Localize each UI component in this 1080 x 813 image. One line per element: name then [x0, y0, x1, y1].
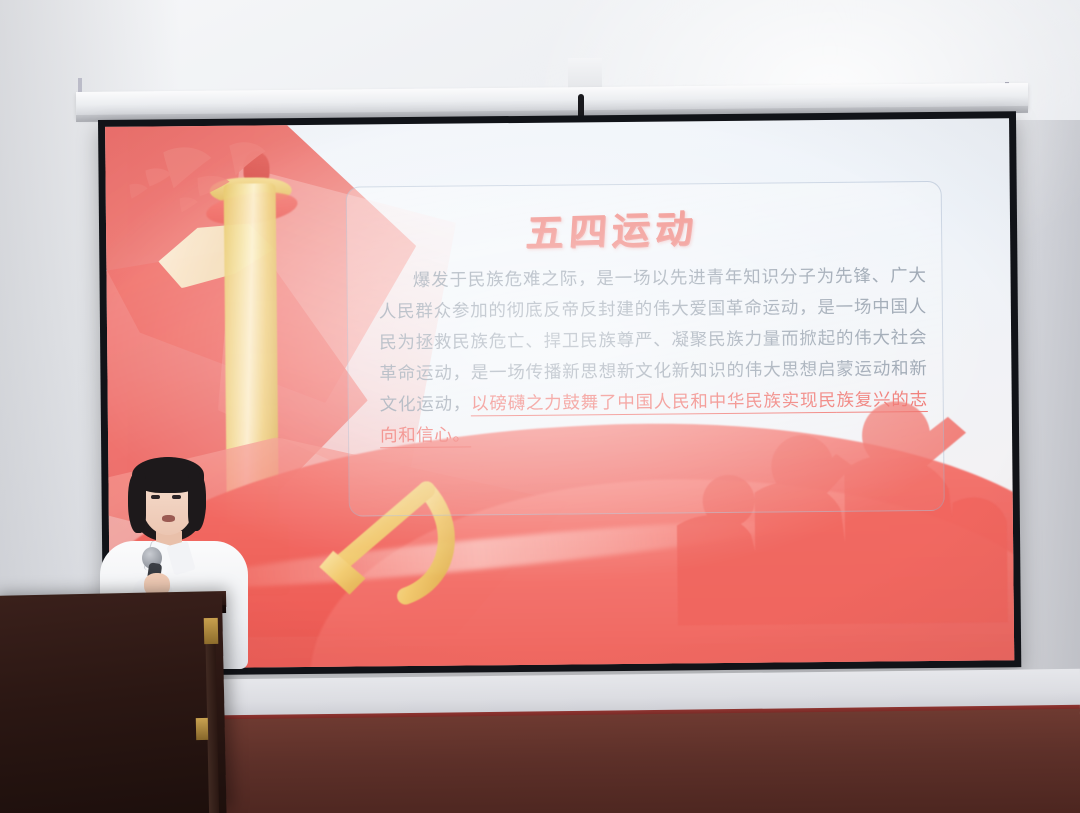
body-line-1: 爆发于民族危难之际，是一场以先进青年知识分子为先锋、广 [412, 266, 908, 291]
speaker-hair-right [188, 473, 206, 531]
slide-body-text: 爆发于民族危难之际，是一场以先进青年知识分子为先锋、广大人民群众参加的彻底反帝反… [378, 261, 928, 452]
dove-icon [125, 135, 316, 215]
speaker-mouth [162, 515, 175, 522]
presentation-photo: 五四运动 爆发于民族危难之际，是一场以先进青年知识分子为先锋、广大人民群众参加的… [0, 0, 1080, 813]
speaker-eye-left [151, 495, 160, 499]
body-line-5-highlight: 以磅礴之力鼓舞了中国人民和中华民族实现民 [471, 391, 837, 417]
speaker-hair-left [128, 473, 146, 533]
speaker-eye-right [172, 495, 181, 499]
podium [0, 593, 227, 813]
podium-trim-upper [204, 618, 219, 644]
slide-title: 五四运动 [524, 198, 700, 258]
podium-trim-lower [196, 718, 208, 740]
